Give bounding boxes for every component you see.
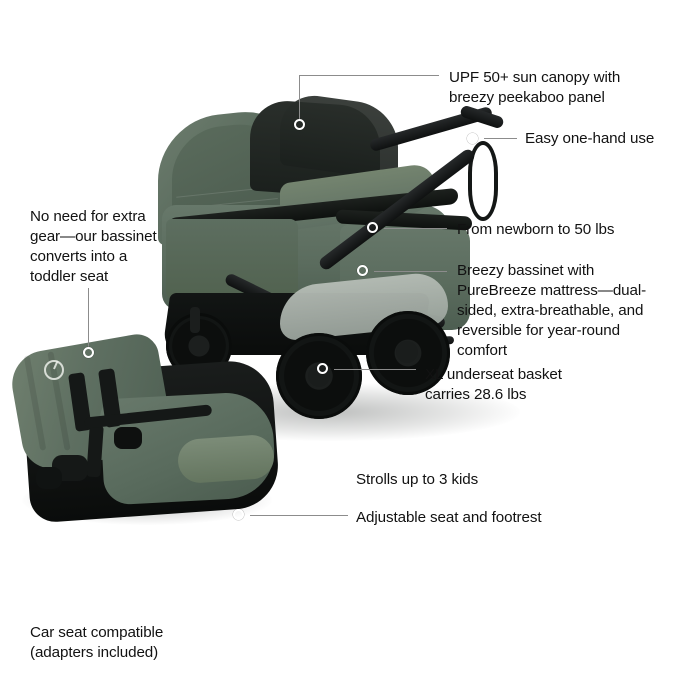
marker-underseat-basket[interactable]: [317, 363, 328, 374]
harness-buckle: [114, 427, 142, 449]
toddler-seat-illustration: [10, 325, 290, 535]
callout-adjustable-seat-footrest: Adjustable seat and footrest: [356, 508, 656, 528]
leader-line-converts-vertical: [88, 288, 89, 347]
callout-underseat-basket: XL underseat basket carries 28.6 lbs: [425, 365, 679, 405]
marker-breezy-bassinet[interactable]: [357, 265, 368, 276]
leader-line-one-hand-use: [484, 138, 517, 139]
callout-one-hand-use: Easy one-hand use: [525, 129, 679, 149]
leader-line-sun-canopy-vertical: [299, 75, 300, 119]
marker-sun-canopy[interactable]: [294, 119, 305, 130]
callout-bassinet-converts: No need for extra gear—our bassinet conv…: [30, 207, 195, 287]
leader-line-adjustable-seat: [250, 515, 348, 516]
seat-adapter: [36, 467, 62, 489]
wheel-hub: [396, 341, 418, 363]
leader-line-bassinet: [374, 271, 447, 272]
bugaboo-logo-icon: [44, 360, 64, 380]
leader-line-newborn: [384, 228, 447, 229]
footrest-pad: [177, 434, 276, 485]
callout-sun-canopy: UPF 50+ sun canopy with breezy peekaboo …: [449, 68, 679, 108]
callout-strolls-three-kids: Strolls up to 3 kids: [356, 470, 576, 490]
callout-newborn-to-50lbs: From newborn to 50 lbs: [457, 220, 679, 240]
marker-adjustable-seat[interactable]: [233, 509, 244, 520]
callout-breezy-bassinet: Breezy bassinet with PureBreeze mattress…: [457, 261, 679, 361]
callout-car-seat-compatible: Car seat compatible (adapters included): [30, 623, 250, 663]
leader-line-sun-canopy-horizontal: [299, 75, 439, 76]
infographic-canvas: UPF 50+ sun canopy with breezy peekaboo …: [0, 0, 679, 679]
marker-bassinet-converts[interactable]: [83, 347, 94, 358]
leader-line-basket: [334, 369, 416, 370]
marker-one-hand-use[interactable]: [467, 133, 478, 144]
marker-newborn-to-50lbs[interactable]: [367, 222, 378, 233]
